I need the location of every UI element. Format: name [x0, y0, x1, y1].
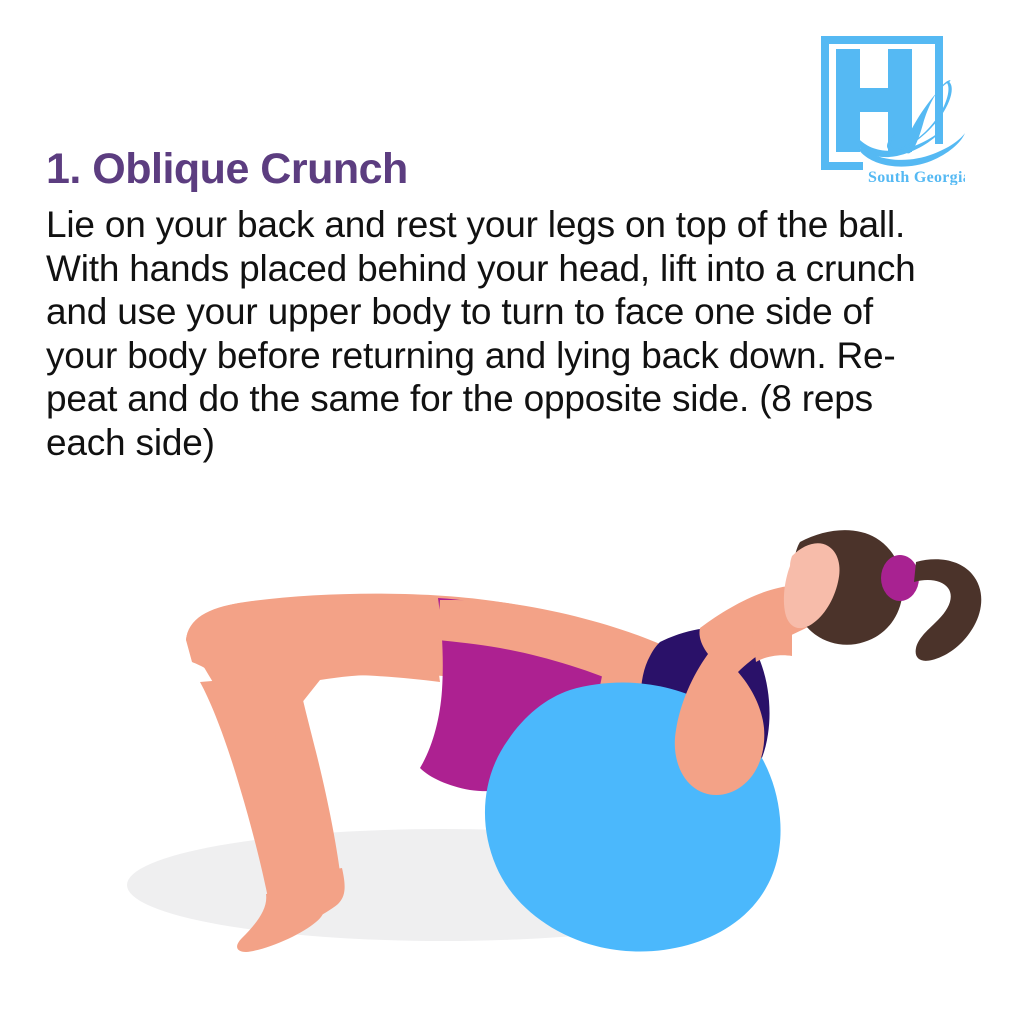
- exercise-title: 1. Oblique Crunch: [46, 148, 962, 191]
- logo-letter-h-icon: [836, 49, 912, 152]
- description-line: and use your upper body to turn to face …: [46, 290, 962, 334]
- ponytail: [914, 559, 981, 661]
- hair-tie: [881, 555, 919, 601]
- description-line: each side): [46, 421, 962, 465]
- poster-canvas: South Georgia 1. Oblique Crunch Lie on y…: [0, 0, 1024, 1024]
- description-line: Lie on your back and rest your legs on t…: [46, 203, 962, 247]
- description-line: peat and do the same for the opposite si…: [46, 377, 962, 421]
- description-line: your body before returning and lying bac…: [46, 334, 962, 378]
- exercise-text-block: 1. Oblique Crunch Lie on your back and r…: [46, 148, 962, 464]
- neck: [752, 624, 792, 662]
- exercise-illustration: [0, 490, 1024, 960]
- exercise-description: Lie on your back and rest your legs on t…: [46, 203, 962, 464]
- description-line: With hands placed behind your head, lift…: [46, 247, 962, 291]
